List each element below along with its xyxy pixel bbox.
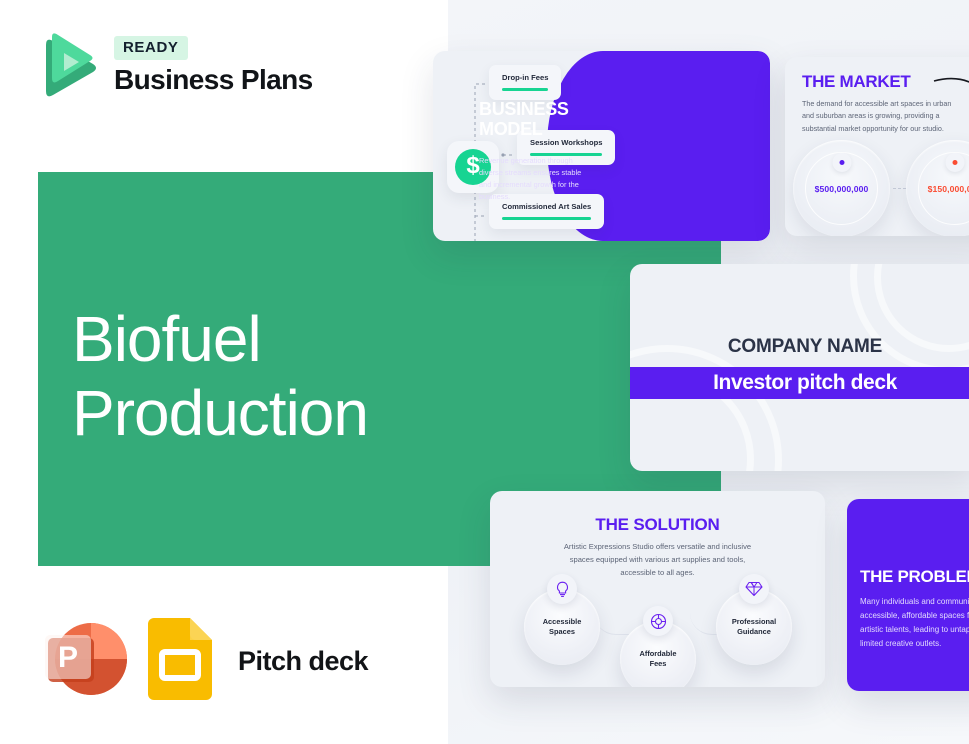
business-model-heading-line-2: MODEL [479, 119, 569, 139]
metric-dot-holder [832, 153, 851, 172]
play-triangle-logo-icon [38, 33, 100, 99]
lightbulb-icon [547, 574, 577, 604]
brand-text-block: READY Business Plans [114, 36, 313, 96]
slide-investor-pitch-deck[interactable]: COMPANY NAME Investor pitch deck [630, 264, 969, 471]
pitch-subtitle-band: Investor pitch deck [630, 367, 969, 399]
pitch-subtitle: Investor pitch deck [713, 371, 897, 395]
solution-node[interactable]: Professional Guidance [716, 589, 792, 665]
node-label-line-1: Professional [732, 617, 776, 626]
pitch-company-name: COMPANY NAME [630, 336, 969, 358]
diamond-icon [739, 574, 769, 604]
solution-node[interactable]: Accessible Spaces [524, 589, 600, 665]
node-label-line-2: Guidance [737, 627, 771, 636]
solution-node[interactable]: Affordable Fees [620, 621, 696, 687]
hero-title-line-2: Production [72, 376, 368, 450]
node-label-line-1: Affordable [640, 649, 677, 658]
business-model-body: Revenue generation through diverse strea… [479, 155, 591, 203]
slide-the-solution[interactable]: THE SOLUTION Artistic Expressions Studio… [490, 491, 825, 687]
problem-title: THE PROBLEM [860, 567, 969, 587]
accent-bar [502, 217, 591, 220]
metric-dot [952, 160, 957, 165]
market-body: The demand for accessible art spaces in … [802, 98, 959, 135]
node-label-line-2: Fees [650, 659, 667, 668]
slide-the-problem[interactable]: THE PROBLEM Many individuals and communi… [847, 499, 969, 691]
ready-badge: READY [114, 36, 188, 60]
hero-title-line-1: Biofuel [72, 302, 368, 376]
market-metric-sam[interactable]: $150,000,000 [906, 140, 969, 236]
problem-body: Many individuals and communities lack ac… [860, 595, 969, 651]
solution-node-label: Accessible Spaces [543, 617, 582, 638]
brand-logo: READY Business Plans [38, 33, 313, 99]
brand-name: Business Plans [114, 64, 313, 96]
solution-nodes: Accessible Spaces Affordable F [490, 581, 825, 687]
accent-bar [502, 88, 548, 91]
revenue-stream-label: Drop-in Fees [502, 73, 548, 82]
business-model-heading: BUSINESS MODEL [479, 99, 569, 139]
market-metric-value: $500,000,000 [815, 184, 869, 194]
market-metric-value: $150,000,000 [928, 184, 969, 194]
slide-business-model[interactable]: $ Drop-in Fees Session Workshops Commiss… [433, 51, 770, 241]
svg-text:P: P [58, 641, 78, 674]
solution-body: Artistic Expressions Studio offers versa… [558, 541, 757, 579]
business-model-heading-line-1: BUSINESS [479, 99, 569, 119]
format-label: Pitch deck [238, 646, 368, 677]
revenue-stream-item[interactable]: Drop-in Fees [489, 65, 561, 100]
solution-node-label: Affordable Fees [640, 649, 677, 670]
hero-title: Biofuel Production [72, 302, 368, 450]
poster-canvas: READY Business Plans Biofuel Production … [0, 0, 969, 744]
metric-dot [839, 160, 844, 165]
format-badges: P Pitch deck [40, 616, 368, 707]
target-compass-icon [643, 606, 673, 636]
solution-node-label: Professional Guidance [732, 617, 776, 638]
node-label-line-1: Accessible [543, 617, 582, 626]
solution-title: THE SOLUTION [490, 515, 825, 535]
market-metric-circles: $500,000,000 $150,000,000 [793, 140, 969, 236]
powerpoint-icon: P [40, 616, 130, 707]
node-label-line-2: Spaces [549, 627, 575, 636]
google-slides-icon [148, 618, 212, 705]
metric-dot-holder [945, 153, 964, 172]
slide-the-market[interactable]: THE MARKET The demand for accessible art… [785, 57, 969, 236]
revenue-stream-label: Session Workshops [530, 138, 602, 147]
market-title: THE MARKET [802, 72, 910, 92]
revenue-stream-label: Commissioned Art Sales [502, 202, 591, 211]
market-metric-tam[interactable]: $500,000,000 [793, 140, 890, 236]
